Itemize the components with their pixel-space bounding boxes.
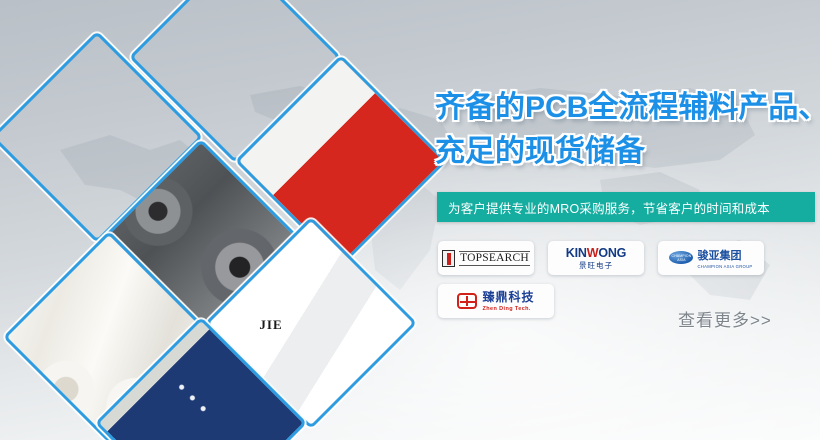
client-logo-kinwong[interactable]: KINWONG 景旺电子 bbox=[548, 241, 644, 275]
champion-asia-label-en: CHAMPION ASIA GROUP bbox=[697, 265, 752, 269]
view-more-link[interactable]: 查看更多>> bbox=[678, 306, 772, 331]
kinwong-label-part1: KIN bbox=[566, 246, 587, 260]
client-logo-row-1: TOPSEARCH KINWONG 景旺电子 骏亚集 bbox=[438, 241, 820, 275]
client-logo-champion-asia[interactable]: 骏亚集团 CHAMPION ASIA GROUP bbox=[658, 241, 764, 275]
kinwong-wordmark-icon: KINWONG 景旺电子 bbox=[566, 247, 626, 269]
client-logo-zhen-ding[interactable]: 臻鼎科技 Zhen Ding Tech. bbox=[438, 284, 554, 318]
kinwong-label-part3: ONG bbox=[598, 246, 626, 260]
zhen-ding-mark-icon bbox=[457, 293, 477, 309]
client-logo-topsearch[interactable]: TOPSEARCH bbox=[438, 241, 534, 275]
subtitle-bar: 为客户提供专业的MRO采购服务，节省客户的时间和成本 bbox=[437, 192, 815, 222]
page-title: 齐备的PCB全流程辅料产品、 充足的现货储备 bbox=[435, 86, 820, 174]
headline-line-2: 充足的现货储备 bbox=[435, 130, 820, 174]
headline-line-1: 齐备的PCB全流程辅料产品、 bbox=[435, 91, 820, 124]
topsearch-label: TOPSEARCH bbox=[459, 251, 530, 266]
kinwong-label-cn: 景旺电子 bbox=[566, 262, 626, 270]
zhen-ding-label-en: Zhen Ding Tech. bbox=[482, 307, 534, 313]
subtitle-text: 为客户提供专业的MRO采购服务，节省客户的时间和成本 bbox=[437, 198, 770, 217]
topsearch-mark-icon bbox=[442, 250, 455, 267]
kinwong-label-part2: W bbox=[587, 246, 599, 260]
promo-banner: 齐备的PCB全流程辅料产品、 充足的现货储备 为客户提供专业的MRO采购服务，节… bbox=[0, 0, 820, 440]
banner-content: 齐备的PCB全流程辅料产品、 充足的现货储备 为客户提供专业的MRO采购服务，节… bbox=[430, 0, 820, 440]
product-collage bbox=[0, 0, 470, 440]
champion-asia-label-cn: 骏亚集团 bbox=[697, 250, 741, 262]
champion-asia-globe-icon bbox=[669, 251, 693, 264]
zhen-ding-label-cn: 臻鼎科技 bbox=[482, 290, 534, 304]
